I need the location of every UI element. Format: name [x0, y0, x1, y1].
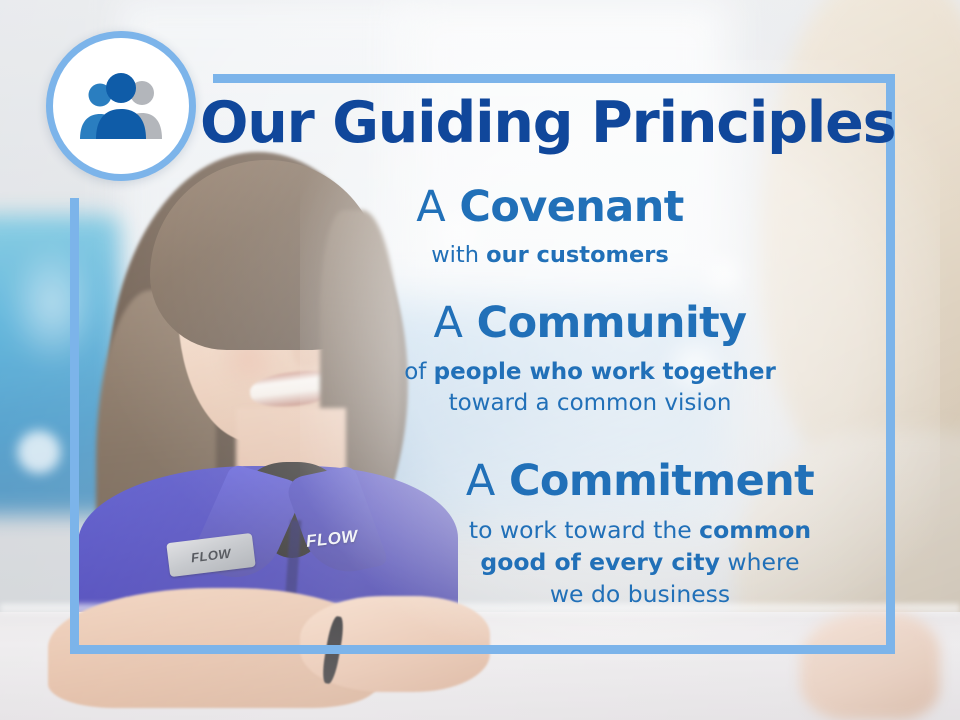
detail-text-bold: our customers — [486, 242, 669, 268]
detail-text-plain: with — [431, 242, 486, 268]
detail-text-plain: where — [720, 548, 800, 576]
detail-line: toward a common vision — [240, 388, 940, 419]
blurred-vw-emblem — [12, 425, 66, 479]
people-group-badge — [46, 31, 196, 181]
text-column: Our Guiding Principles A Covenant with o… — [200, 0, 900, 660]
principle-lead-covenant: A Covenant — [200, 182, 900, 232]
principle-article: A — [466, 456, 495, 506]
principle-keyword: Commitment — [509, 456, 814, 506]
principle-detail-covenant: with our customers — [200, 240, 900, 271]
principle-block-covenant: A Covenant with our customers — [200, 182, 900, 271]
page-title: Our Guiding Principles — [200, 92, 880, 154]
principle-lead-community: A Community — [240, 298, 940, 348]
detail-line: of people who work together — [240, 357, 940, 388]
detail-text-plain: of — [404, 359, 433, 385]
principle-keyword: Covenant — [459, 182, 683, 232]
detail-line: we do business — [290, 578, 960, 610]
detail-text-bold: people who work together — [434, 359, 776, 385]
principle-lead-commitment: A Commitment — [290, 456, 960, 506]
principle-article: A — [434, 298, 463, 348]
principle-detail-community: of people who work together toward a com… — [240, 357, 940, 419]
detail-text-bold: common — [699, 516, 811, 544]
detail-line: good of every city where — [290, 546, 960, 578]
principle-article: A — [416, 182, 445, 232]
detail-text-plain: to work toward the — [469, 516, 699, 544]
principle-keyword: Community — [477, 298, 747, 348]
guiding-principles-graphic: FLOW FLOW Our Guiding Principles — [0, 0, 960, 720]
detail-text-bold: good of every city — [480, 548, 720, 576]
principle-detail-commitment: to work toward the common good of every … — [290, 514, 960, 610]
detail-line: to work toward the common — [290, 514, 960, 546]
people-group-icon — [75, 73, 167, 139]
principle-block-community: A Community of people who work together … — [240, 298, 940, 419]
principle-block-commitment: A Commitment to work toward the common g… — [290, 456, 960, 610]
